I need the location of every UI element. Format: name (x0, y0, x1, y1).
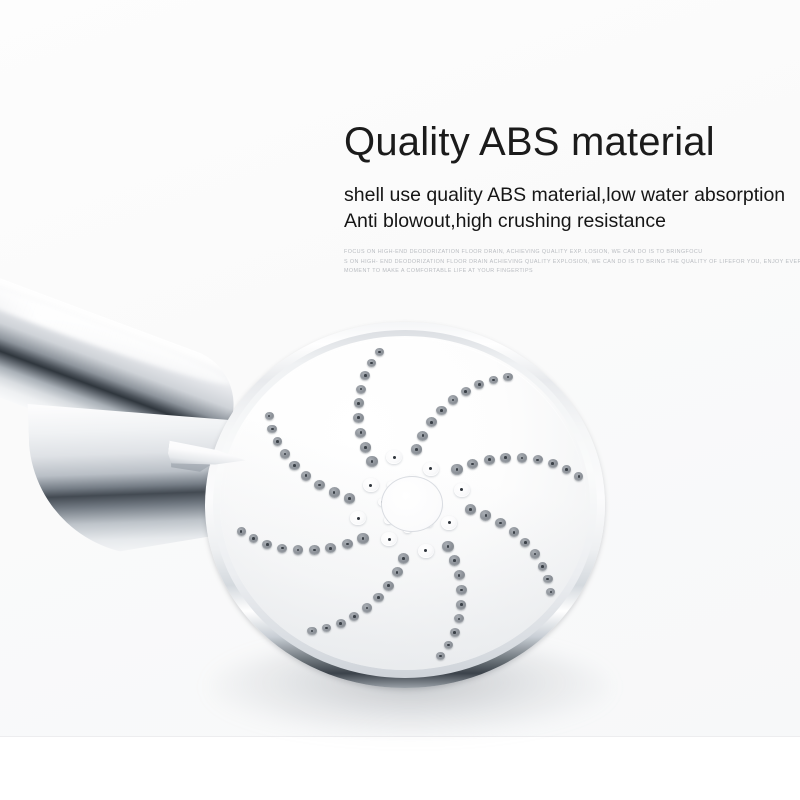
spray-nozzle-gray (548, 459, 558, 468)
nozzle-hole (551, 462, 554, 465)
nozzle-hole (452, 399, 455, 402)
spray-nozzle-gray (398, 553, 409, 563)
nozzle-hole (448, 521, 451, 524)
nozzle-hole (266, 543, 269, 546)
nozzle-hole (402, 557, 405, 560)
spray-nozzle-gray (366, 456, 377, 466)
nozzle-hole (541, 565, 544, 568)
nozzle-hole (464, 390, 467, 393)
nozzle-hole (485, 514, 488, 517)
nozzle-hole (268, 415, 271, 418)
fineprint-line: MOMENT TO MAKE A COMFORTABLE LIFE AT YOU… (344, 267, 800, 277)
spray-nozzle-gray (360, 442, 371, 452)
spray-nozzle-gray (562, 465, 571, 474)
nozzle-hole (460, 603, 463, 606)
nozzle-hole (578, 475, 581, 478)
nozzle-hole (346, 543, 349, 546)
nozzle-hole (293, 464, 296, 467)
nozzle-hole (333, 491, 336, 494)
nozzle-hole (311, 630, 314, 633)
spray-nozzle-gray (543, 575, 552, 584)
nozzle-hole (439, 655, 442, 658)
nozzle-hole (453, 631, 456, 634)
spray-nozzle-gray (383, 581, 394, 591)
marketing-copy: Quality ABS material shell use quality A… (344, 118, 800, 277)
spray-nozzle-gray (262, 540, 272, 549)
spray-nozzle-gray (450, 628, 460, 637)
spray-nozzle-gray (480, 510, 491, 520)
nozzle-hole (440, 409, 443, 412)
nozzle-hole (424, 549, 427, 552)
nozzle-hole (360, 388, 363, 391)
spray-nozzle-gray (277, 544, 287, 553)
nozzle-hole (492, 379, 495, 382)
spray-nozzle-gray (449, 555, 460, 565)
spray-nozzle-gray (355, 428, 366, 438)
spray-nozzle-white (454, 483, 470, 497)
spray-nozzle-gray (237, 527, 246, 535)
nozzle-hole (325, 627, 328, 630)
nozzle-hole (536, 459, 539, 462)
spray-nozzle-gray (454, 570, 465, 580)
spray-nozzle-gray (503, 373, 512, 381)
spray-nozzle-gray (451, 464, 462, 474)
nozzle-hole (415, 448, 418, 451)
spray-nozzle-gray (442, 541, 453, 551)
nozzle-hole (447, 644, 450, 647)
nozzle-hole (357, 517, 360, 520)
spray-nozzle-gray (456, 600, 466, 609)
spray-nozzle-gray (436, 406, 447, 416)
nozzle-hole (378, 351, 381, 354)
nozzle-hole (471, 463, 474, 466)
nozzle-hole (271, 428, 274, 431)
nozzle-hole (488, 458, 491, 461)
spray-nozzle-gray (426, 417, 437, 427)
nozzle-hole (458, 618, 461, 621)
nozzle-hole (284, 453, 287, 456)
nozzle-hole (348, 497, 351, 500)
nozzle-hole (366, 607, 369, 610)
spray-nozzle-gray (530, 549, 540, 558)
page-title: Quality ABS material (344, 118, 800, 166)
product-banner: Quality ABS material shell use quality A… (0, 0, 800, 800)
spray-nozzle-gray (354, 398, 364, 407)
nozzle-hole (546, 578, 549, 581)
nozzle-hole (456, 468, 459, 471)
nozzle-hole (422, 434, 425, 437)
spray-nozzle-gray (314, 480, 325, 490)
spray-nozzle-white (418, 544, 434, 558)
nozzle-hole (447, 545, 450, 548)
nozzle-hole (252, 537, 255, 540)
nozzle-hole (369, 484, 372, 487)
spray-nozzle-gray (362, 603, 372, 612)
nozzle-hole (313, 549, 316, 552)
spray-nozzle-gray (344, 493, 355, 503)
fineprint-line: FOCUS ON HIGH-END DEODORIZATION FLOOR DR… (344, 248, 800, 258)
nozzle-hole (305, 474, 308, 477)
spray-nozzle-gray (357, 533, 368, 543)
nozzle-hole (534, 553, 537, 556)
spray-nozzle-gray (267, 425, 276, 434)
spray-nozzle-gray (484, 455, 495, 465)
spray-nozzle-gray (329, 487, 340, 497)
nozzle-hole (524, 541, 527, 544)
nozzle-hole (458, 574, 461, 577)
spray-nozzle-gray (249, 534, 258, 543)
nozzle-hole (329, 547, 332, 550)
spray-nozzle-gray (265, 412, 274, 420)
spray-nozzle-gray (307, 627, 316, 635)
nozzle-hole (429, 467, 432, 470)
nozzle-hole (388, 538, 391, 541)
spray-nozzle-gray (465, 504, 476, 514)
spray-nozzle-gray (301, 471, 312, 481)
spray-nozzle-gray (448, 395, 458, 404)
spray-nozzle-gray (461, 387, 471, 396)
nozzle-hole (364, 446, 367, 449)
nozzle-hole (393, 456, 396, 459)
nozzle-hole (371, 460, 374, 463)
spray-nozzle-gray (309, 545, 320, 555)
nozzle-hole (357, 416, 360, 419)
spray-nozzle-white (423, 462, 439, 476)
nozzle-hole (362, 537, 365, 540)
nozzle-hole (377, 596, 380, 599)
subtext-line: shell use quality ABS material,low water… (344, 182, 800, 208)
face-plate-center-disc (381, 476, 443, 532)
spray-nozzle-white (441, 516, 457, 530)
spray-nozzle-gray (293, 545, 303, 554)
nozzle-hole (357, 402, 360, 405)
nozzle-hole (276, 440, 279, 443)
spray-nozzle-white (363, 478, 379, 492)
nozzle-hole (370, 362, 373, 365)
nozzle-hole (499, 522, 502, 525)
nozzle-hole (504, 456, 507, 459)
nozzle-hole (507, 376, 510, 379)
nozzle-hole (565, 468, 568, 471)
nozzle-hole (430, 421, 433, 424)
nozzle-hole (469, 508, 472, 511)
spray-nozzle-gray (353, 413, 364, 423)
spray-nozzle-gray (456, 585, 467, 595)
nozzle-hole (550, 591, 553, 594)
nozzle-hole (297, 549, 300, 552)
spray-nozzle-gray (356, 385, 366, 394)
nozzle-hole (318, 484, 321, 487)
fineprint-block: FOCUS ON HIGH-END DEODORIZATION FLOOR DR… (344, 248, 800, 277)
nozzle-hole (478, 383, 481, 386)
spray-nozzle-gray (342, 539, 353, 549)
nozzle-hole (453, 559, 456, 562)
nozzle-hole (281, 547, 284, 550)
spray-nozzle-gray (280, 449, 290, 458)
subtext-block: shell use quality ABS material,low water… (344, 182, 800, 234)
spray-nozzle-gray (538, 562, 548, 571)
spray-nozzle-gray (336, 619, 346, 628)
nozzle-hole (364, 374, 367, 377)
fineprint-line: S ON HIGH- END DEODORIZATION FLOOR DRAIN… (344, 258, 800, 268)
nozzle-hole (353, 615, 356, 618)
nozzle-hole (240, 530, 243, 533)
nozzle-hole (339, 622, 342, 625)
subtext-line: Anti blowout,high crushing resistance (344, 208, 800, 234)
nozzle-hole (513, 531, 516, 534)
spray-nozzle-gray (411, 444, 422, 454)
spray-nozzle-gray (289, 461, 299, 470)
nozzle-hole (460, 488, 463, 491)
spray-nozzle-gray (517, 453, 527, 462)
spray-nozzle-gray (500, 453, 511, 463)
nozzle-hole (460, 589, 463, 592)
nozzle-hole (396, 571, 399, 574)
nozzle-hole (360, 431, 363, 434)
nozzle-hole (387, 584, 390, 587)
nozzle-hole (521, 457, 524, 460)
